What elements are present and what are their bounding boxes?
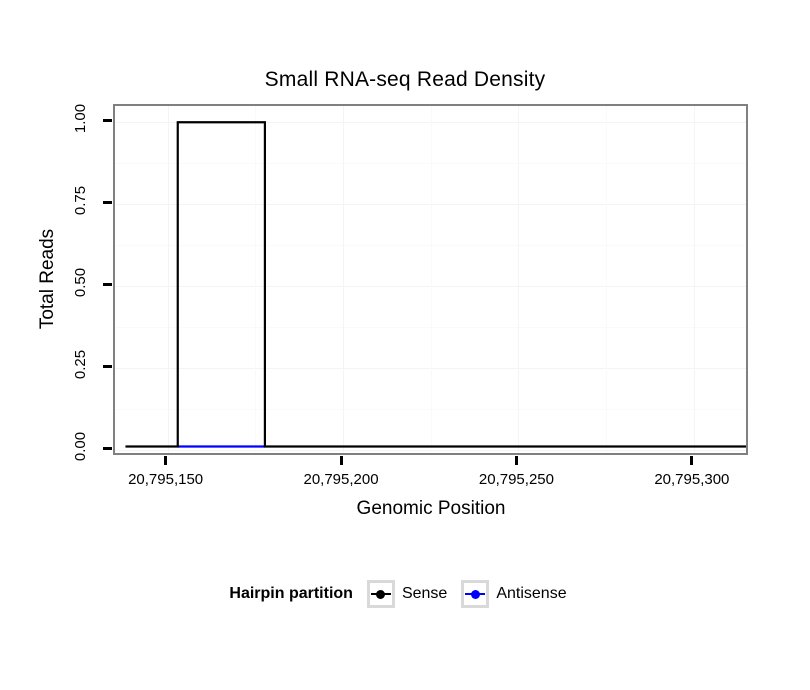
plot-panel bbox=[113, 104, 748, 455]
x-tick-label: 20,795,300 bbox=[654, 471, 729, 488]
y-tick-label: 0.25 bbox=[51, 356, 95, 373]
y-tick-label: 0.50 bbox=[51, 274, 95, 291]
series-line-sense bbox=[125, 122, 746, 446]
y-tick-label: 1.00 bbox=[51, 110, 95, 127]
y-tick-mark bbox=[103, 119, 112, 122]
legend: Hairpin partition SenseAntisense bbox=[0, 580, 810, 608]
y-tick-label-text: 0.00 bbox=[72, 432, 89, 461]
legend-label: Sense bbox=[402, 585, 447, 603]
y-tick-mark bbox=[103, 283, 112, 286]
y-tick-mark bbox=[103, 201, 112, 204]
chart-title: Small RNA-seq Read Density bbox=[0, 68, 810, 92]
legend-key-sense bbox=[367, 580, 395, 608]
legend-item-sense[interactable]: Sense bbox=[367, 580, 447, 608]
y-tick-mark bbox=[103, 365, 112, 368]
legend-key-point bbox=[471, 590, 480, 599]
y-tick-mark bbox=[103, 447, 112, 450]
legend-items: SenseAntisense bbox=[367, 580, 581, 608]
legend-item-antisense[interactable]: Antisense bbox=[461, 580, 566, 608]
x-tick-label: 20,795,200 bbox=[303, 471, 378, 488]
y-tick-label: 0.00 bbox=[51, 438, 95, 455]
x-tick-mark bbox=[515, 456, 518, 465]
legend-key-point bbox=[376, 590, 385, 599]
legend-title: Hairpin partition bbox=[229, 585, 353, 603]
x-tick-mark bbox=[690, 456, 693, 465]
chart-figure: Small RNA-seq Read Density Total Reads 0… bbox=[0, 0, 810, 690]
y-tick-label-text: 0.25 bbox=[72, 350, 89, 379]
x-tick-mark bbox=[164, 456, 167, 465]
y-tick-label-text: 1.00 bbox=[72, 104, 89, 133]
y-tick-label: 0.75 bbox=[51, 192, 95, 209]
y-tick-label-text: 0.50 bbox=[72, 268, 89, 297]
x-tick-mark bbox=[340, 456, 343, 465]
legend-label: Antisense bbox=[496, 585, 566, 603]
y-tick-label-text: 0.75 bbox=[72, 186, 89, 215]
x-tick-label: 20,795,150 bbox=[128, 471, 203, 488]
x-tick-label: 20,795,250 bbox=[479, 471, 554, 488]
legend-key-antisense bbox=[461, 580, 489, 608]
data-series-layer bbox=[115, 106, 746, 453]
x-axis-title: Genomic Position bbox=[113, 498, 749, 520]
